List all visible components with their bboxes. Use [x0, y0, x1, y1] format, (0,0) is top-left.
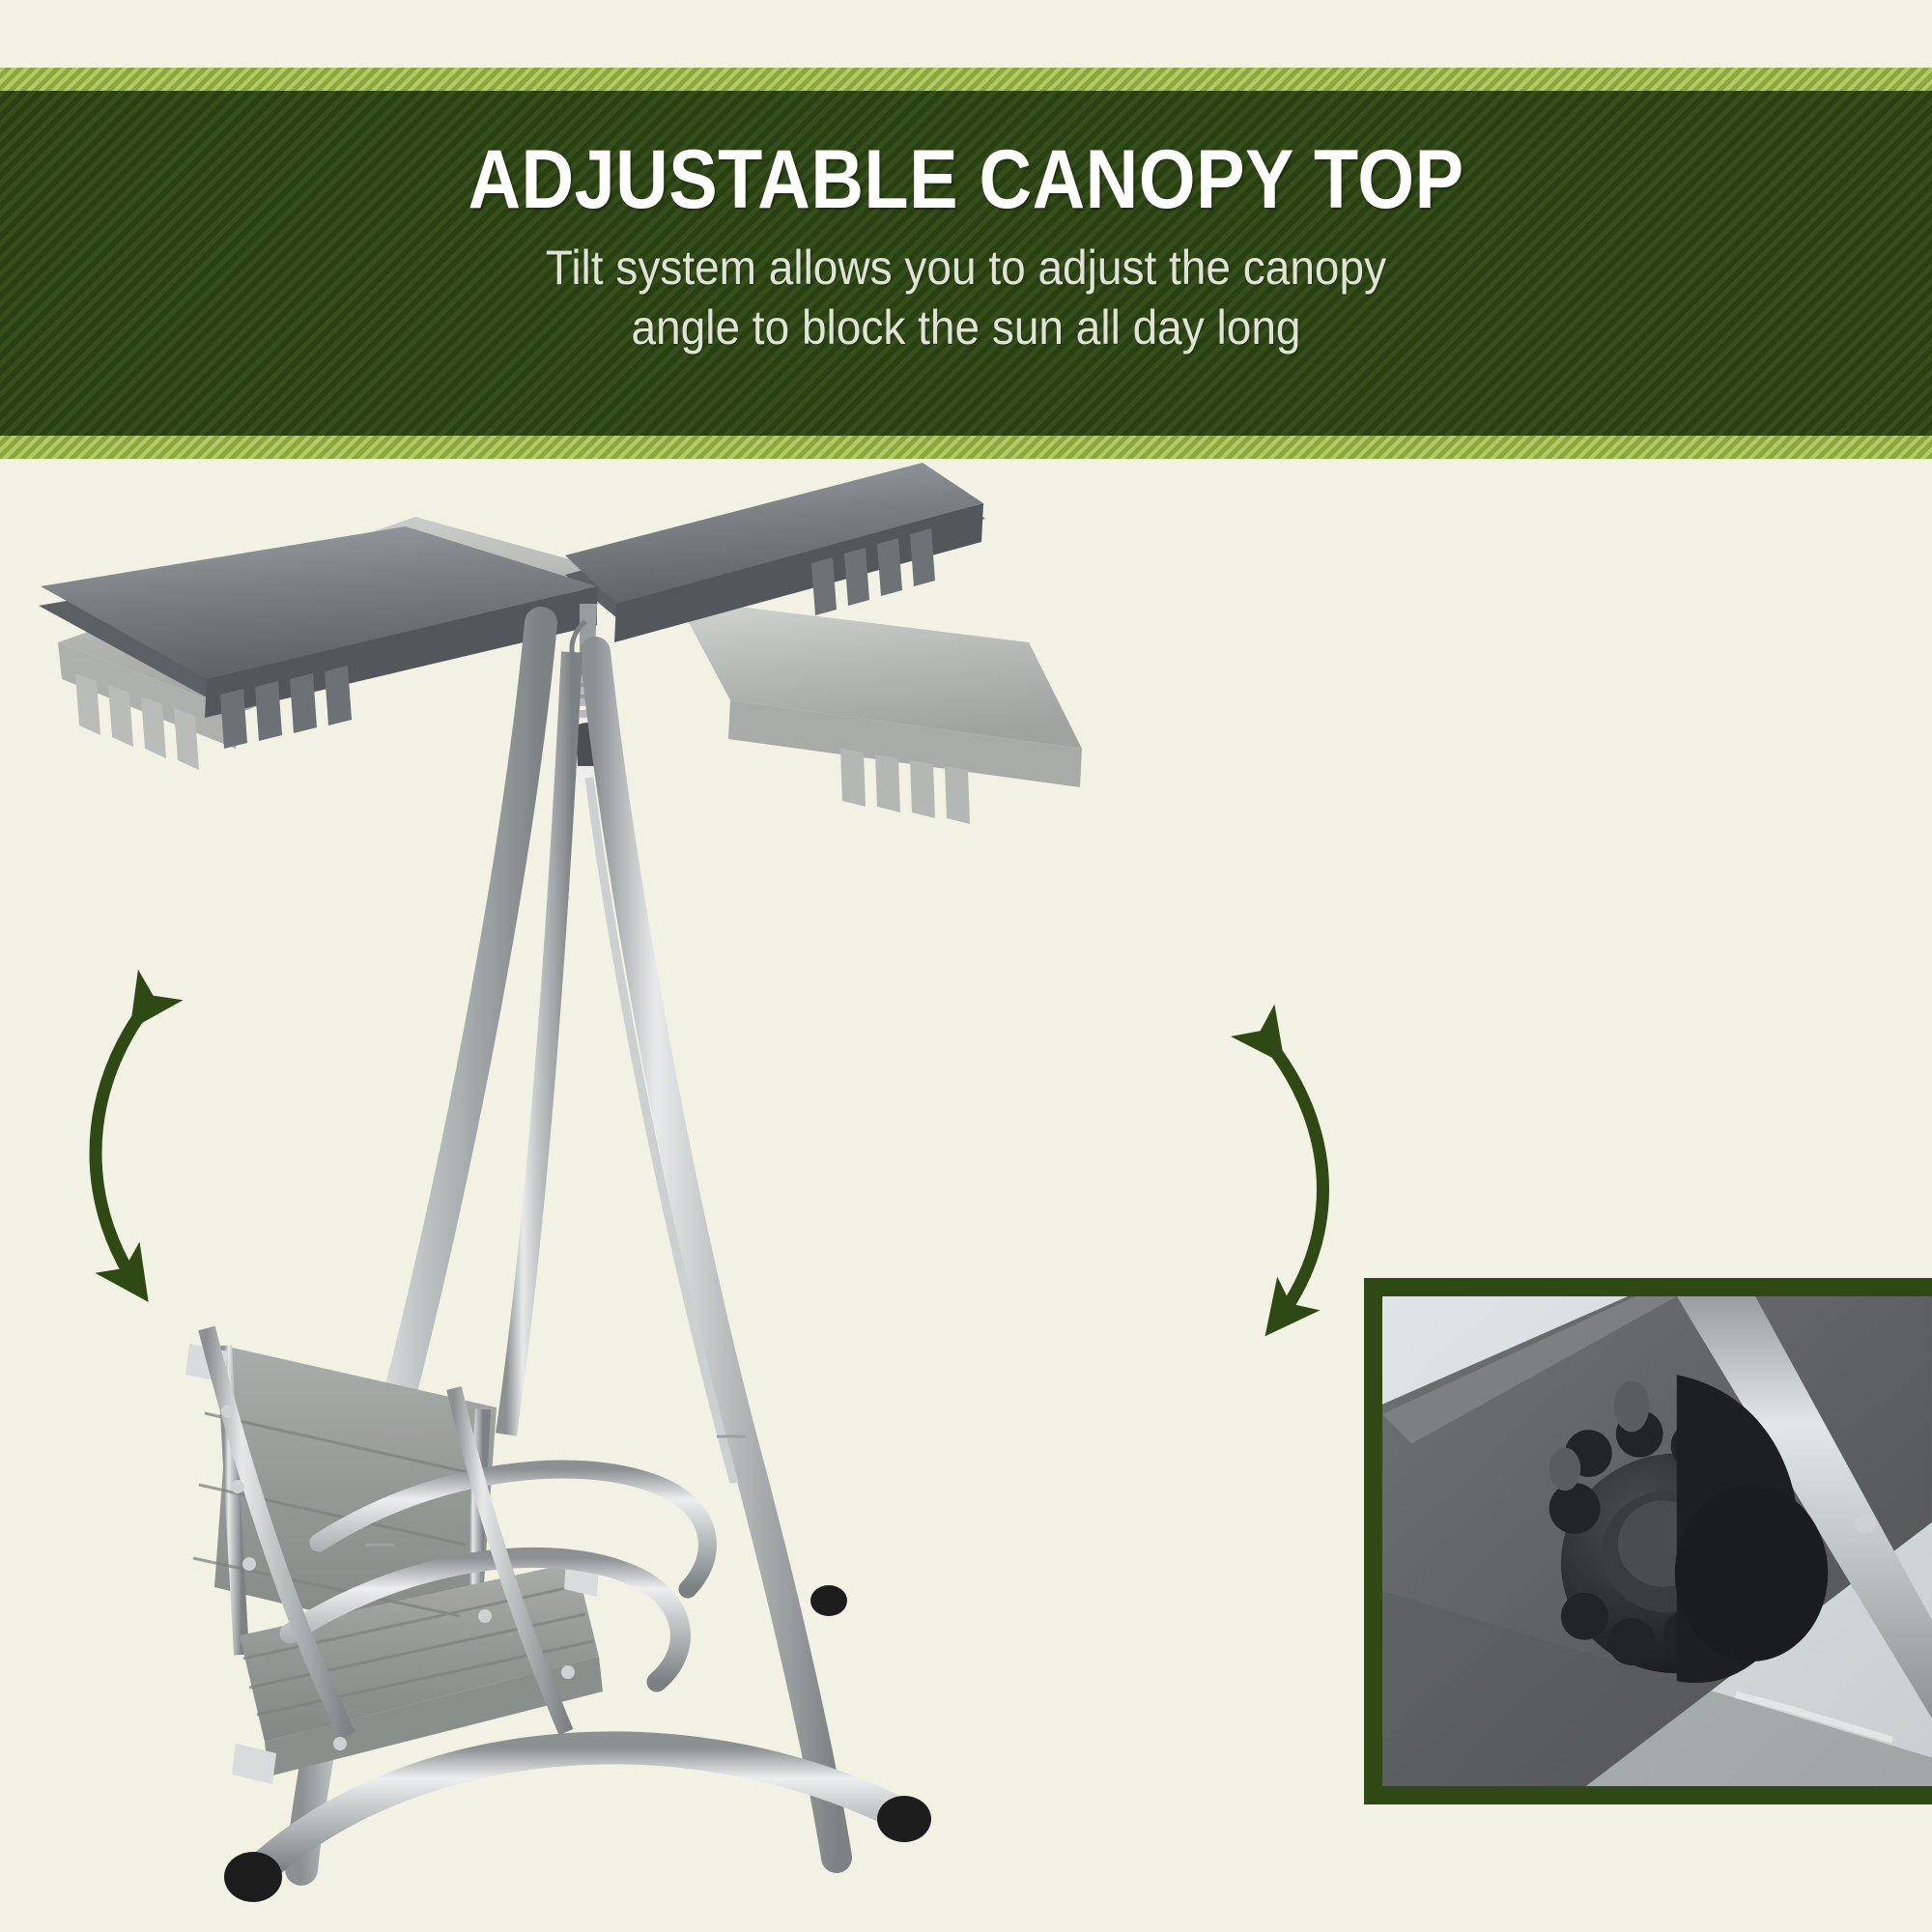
banner-bottom-stripe: [0, 436, 1932, 459]
tilt-knob-photo: [1382, 1296, 1932, 1804]
page-title: ADJUSTABLE CANOPY TOP: [116, 135, 1816, 224]
feature-banner: ADJUSTABLE CANOPY TOP Tilt system allows…: [0, 68, 1932, 459]
banner-subtitle-line-1: Tilt system allows you to adjust the can…: [77, 238, 1855, 298]
product-stage: [0, 459, 1932, 1932]
base-curved-rail: [259, 1747, 898, 1871]
tilt-knob-closeup-inset: [1364, 1278, 1932, 1804]
banner-subtitle: Tilt system allows you to adjust the can…: [77, 238, 1855, 357]
banner-body: ADJUSTABLE CANOPY TOP Tilt system allows…: [0, 91, 1932, 436]
textilene-slat-seat: [185, 1328, 707, 1784]
swing-chair-illustration: [0, 459, 1352, 1932]
frame-arch-right: [595, 652, 837, 1858]
banner-top-stripe: [0, 68, 1932, 91]
banner-subtitle-line-2: angle to block the sun all day long: [77, 298, 1855, 357]
